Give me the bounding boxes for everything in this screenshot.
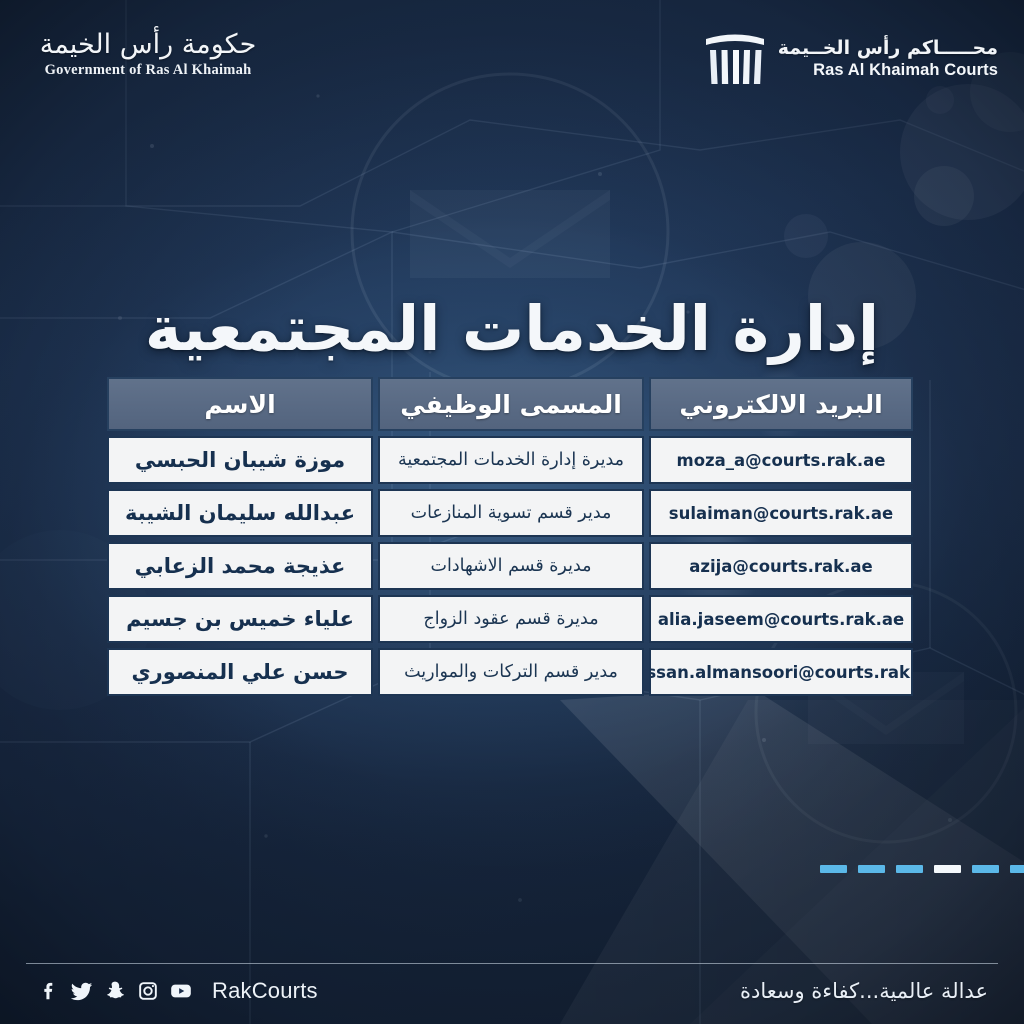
pagination-indicator[interactable]: [820, 865, 1024, 873]
pagination-dash-2[interactable]: [972, 865, 999, 873]
staff-directory-table: البريد الالكتروني المسمى الوظيفي الاسم m…: [107, 377, 913, 701]
courts-logo-english: Ras Al Khaimah Courts: [778, 61, 998, 80]
cell-job-title: مديرة إدارة الخدمات المجتمعية: [378, 436, 644, 484]
table-row: hassan.almansoori@courts.rak.ae مدير قسم…: [107, 648, 913, 696]
cell-email[interactable]: hassan.almansoori@courts.rak.ae: [649, 648, 913, 696]
column-header-name: الاسم: [107, 377, 373, 431]
table-row: alia.jaseem@courts.rak.ae مديرة قسم عقود…: [107, 595, 913, 643]
pagination-dash-5[interactable]: [858, 865, 885, 873]
courts-logo-arabic: محـــــاكم رأس الخــيمة: [778, 38, 998, 60]
cell-job-title: مديرة قسم عقود الزواج: [378, 595, 644, 643]
cell-email[interactable]: azija@courts.rak.ae: [649, 542, 913, 590]
table-row: sulaiman@courts.rak.ae مدير قسم تسوية ال…: [107, 489, 913, 537]
social-links: RakCourts: [38, 978, 318, 1004]
pagination-dash-1[interactable]: [1010, 865, 1024, 873]
cell-job-title: مدير قسم التركات والمواريث: [378, 648, 644, 696]
page-footer: RakCourts عدالة عالمية...كفاءة وسعادة: [0, 964, 1024, 1024]
courts-logo: محـــــاكم رأس الخــيمة Ras Al Khaimah C…: [704, 30, 998, 88]
cell-job-title: مدير قسم تسوية المنازعات: [378, 489, 644, 537]
column-header-job-title: المسمى الوظيفي: [378, 377, 644, 431]
table-row: azija@courts.rak.ae مديرة قسم الاشهادات …: [107, 542, 913, 590]
cell-name: حسن علي المنصوري: [107, 648, 373, 696]
cell-email[interactable]: alia.jaseem@courts.rak.ae: [649, 595, 913, 643]
social-handle: RakCourts: [212, 978, 318, 1004]
table-body: moza_a@courts.rak.ae مديرة إدارة الخدمات…: [107, 436, 913, 696]
government-logo-english: Government of Ras Al Khaimah: [38, 62, 258, 79]
page-title: إدارة الخدمات المجتمعية: [0, 294, 1024, 363]
cell-name: عبدالله سليمان الشيبة: [107, 489, 373, 537]
column-header-email: البريد الالكتروني: [649, 377, 913, 431]
instagram-icon[interactable]: [137, 980, 159, 1002]
government-logo: حكومة رأس الخيمة Government of Ras Al Kh…: [38, 30, 258, 79]
pagination-dash-6[interactable]: [820, 865, 847, 873]
table-header-row: البريد الالكتروني المسمى الوظيفي الاسم: [107, 377, 913, 431]
cell-email[interactable]: moza_a@courts.rak.ae: [649, 436, 913, 484]
cell-name: عذيجة محمد الزعابي: [107, 542, 373, 590]
table-row: moza_a@courts.rak.ae مديرة إدارة الخدمات…: [107, 436, 913, 484]
page-header: حكومة رأس الخيمة Government of Ras Al Kh…: [0, 0, 1024, 120]
facebook-icon[interactable]: [38, 980, 60, 1002]
snapchat-icon[interactable]: [104, 980, 126, 1002]
cell-email[interactable]: sulaiman@courts.rak.ae: [649, 489, 913, 537]
pagination-dash-3-active[interactable]: [934, 865, 961, 873]
cell-job-title: مديرة قسم الاشهادات: [378, 542, 644, 590]
cell-name: موزة شيبان الحبسي: [107, 436, 373, 484]
government-logo-arabic: حكومة رأس الخيمة: [38, 30, 258, 59]
twitter-icon[interactable]: [71, 980, 93, 1002]
footer-slogan: عدالة عالمية...كفاءة وسعادة: [740, 979, 988, 1003]
courthouse-pillars-icon: [704, 30, 766, 88]
cell-name: علياء خميس بن جسيم: [107, 595, 373, 643]
poster-canvas: حكومة رأس الخيمة Government of Ras Al Kh…: [0, 0, 1024, 1024]
youtube-icon[interactable]: [170, 980, 192, 1002]
pagination-dash-4[interactable]: [896, 865, 923, 873]
